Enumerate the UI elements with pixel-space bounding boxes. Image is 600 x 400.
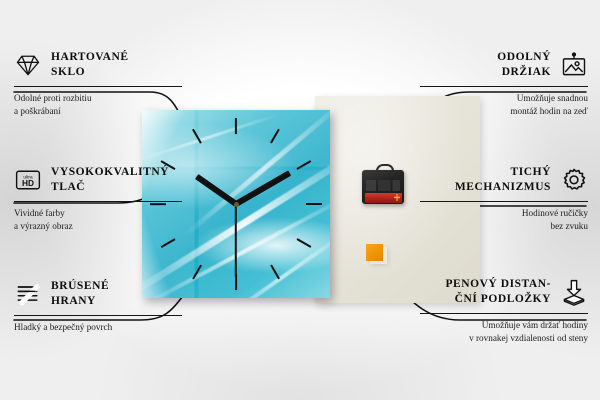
mechanism-body xyxy=(362,170,404,204)
feature-divider xyxy=(420,86,588,87)
hour-marker xyxy=(306,203,322,205)
feature-title-line: BRÚSENÉ xyxy=(51,279,109,294)
mechanism-detail xyxy=(366,180,400,191)
feature-divider xyxy=(420,313,588,314)
feature-desc-line: a výrazný obraz xyxy=(14,220,182,233)
feature-title-line: VYSOKOKVALITNÝ xyxy=(51,165,169,180)
diamond-icon xyxy=(14,51,42,79)
feature-durable-holder: ODOLNÝ DRŽIAK Umožňuje snadnou montáž ho… xyxy=(420,48,588,118)
down-arrow-pad-icon xyxy=(560,278,588,306)
clock-mechanism xyxy=(362,164,404,204)
feature-desc-line: bez zvuku xyxy=(420,220,588,233)
feature-desc-line: a poškrábaní xyxy=(14,105,182,118)
feature-desc-line: Odolné proti rozbitiu xyxy=(14,92,182,105)
battery xyxy=(365,193,402,203)
feature-desc-line: Umožňuje vám držať hodiny xyxy=(420,319,588,332)
feature-title-line: DRŽIAK xyxy=(497,65,551,80)
svg-text:HD: HD xyxy=(22,178,34,188)
feature-desc-line: Hladký a bezpečný povrch xyxy=(14,321,182,334)
clock-hub xyxy=(234,202,239,207)
feature-title-line: SKLO xyxy=(51,65,129,80)
feature-desc-line: v rovnakej vzdialenosti od steny xyxy=(420,332,588,345)
infographic-canvas: HARTOVANÉ SKLO Odolné proti rozbitiu a p… xyxy=(0,0,600,400)
feature-title-line: HARTOVANÉ xyxy=(51,50,129,65)
feature-title-line: MECHANIZMUS xyxy=(455,180,551,195)
feature-title-line: ČNÍ PODLOŽKY xyxy=(445,292,551,307)
feature-divider xyxy=(14,315,182,316)
picture-frame-hanger-icon xyxy=(560,51,588,79)
feature-tempered-glass: HARTOVANÉ SKLO Odolné proti rozbitiu a p… xyxy=(14,48,182,118)
feature-divider xyxy=(14,201,182,202)
feature-title-line: PENOVÝ DISTAN- xyxy=(445,277,551,292)
ground-edges-icon xyxy=(14,280,42,308)
foam-spacer-pad xyxy=(366,244,383,261)
hour-marker xyxy=(235,118,237,134)
second-hand xyxy=(235,204,237,278)
ultra-hd-icon: ultra HD xyxy=(14,166,42,194)
feature-desc-line: montáž hodin na zeď xyxy=(420,105,588,118)
feature-ground-edges: BRÚSENÉ HRANY Hladký a bezpečný povrch xyxy=(14,277,182,334)
feature-title-line: TICHÝ xyxy=(455,165,551,180)
feature-high-quality-print: ultra HD VYSOKOKVALITNÝ TLAČ Vividné far… xyxy=(14,163,182,233)
feature-title-line: TLAČ xyxy=(51,180,169,195)
feature-desc-line: Vividné farby xyxy=(14,207,182,220)
feature-title-line: HRANY xyxy=(51,294,109,309)
feature-silent-mechanism: TICHÝ MECHANIZMUS Hodinové ručičky bez z… xyxy=(420,163,588,233)
feature-foam-spacers: PENOVÝ DISTAN- ČNÍ PODLOŽKY Umožňuje vám… xyxy=(420,275,588,345)
feature-desc-line: Umožňuje snadnou xyxy=(420,92,588,105)
feature-title-line: ODOLNÝ xyxy=(497,50,551,65)
feature-desc-line: Hodinové ručičky xyxy=(420,207,588,220)
feature-divider xyxy=(420,201,588,202)
gear-icon xyxy=(560,166,588,194)
feature-divider xyxy=(14,86,182,87)
